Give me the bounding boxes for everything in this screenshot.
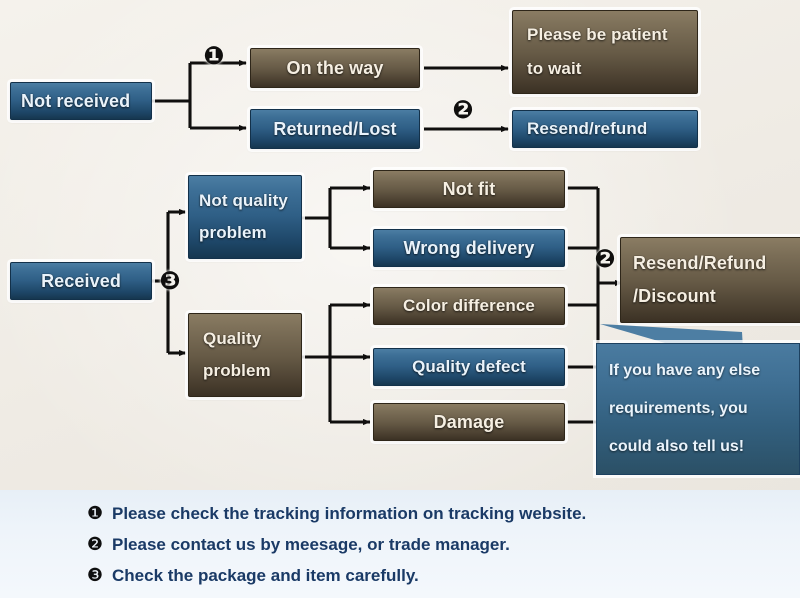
flowchart-canvas: Not received On the way Returned/Lost Pl…: [0, 0, 800, 598]
node-on-the-way[interactable]: On the way: [250, 48, 420, 88]
node-not-quality-problem[interactable]: Not quality problem: [188, 175, 302, 259]
callout-extra-requirements: If you have any else requirements, you c…: [596, 343, 800, 475]
callout-line3: could also tell us!: [609, 438, 787, 456]
legend-text-2: Please contact us by meesage, or trade m…: [112, 535, 510, 555]
node-please-be-patient-line1: Please be patient: [527, 26, 683, 44]
step-marker-3-label: ❸: [159, 266, 180, 295]
step-marker-2-top: ❷: [450, 97, 476, 123]
legend: ❶ Please check the tracking information …: [0, 490, 800, 598]
node-wrong-delivery-label: Wrong delivery: [403, 239, 534, 258]
step-marker-1: ❶: [201, 43, 227, 69]
node-resend-refund-discount-line1: Resend/Refund: [633, 254, 793, 273]
node-resend-refund[interactable]: Resend/refund: [512, 110, 698, 148]
legend-marker-1: ❶: [78, 503, 112, 524]
node-quality-problem-line1: Quality: [203, 330, 287, 348]
legend-marker-3: ❸: [78, 565, 112, 586]
legend-text-3: Check the package and item carefully.: [112, 566, 419, 586]
node-not-fit[interactable]: Not fit: [373, 170, 565, 208]
node-damage[interactable]: Damage: [373, 403, 565, 441]
node-quality-problem-line2: problem: [203, 362, 287, 380]
node-color-difference[interactable]: Color difference: [373, 287, 565, 325]
node-wrong-delivery[interactable]: Wrong delivery: [373, 229, 565, 267]
node-color-difference-label: Color difference: [403, 297, 535, 315]
node-not-quality-problem-line1: Not quality: [199, 192, 291, 210]
node-resend-refund-discount-line2: /Discount: [633, 287, 793, 306]
step-marker-3: ❸: [157, 268, 183, 294]
legend-item: ❸ Check the package and item carefully.: [78, 560, 800, 591]
node-received[interactable]: Received: [10, 262, 152, 300]
node-please-be-patient[interactable]: Please be patient to wait: [512, 10, 698, 94]
node-resend-refund-discount[interactable]: Resend/Refund /Discount: [620, 237, 800, 323]
step-marker-1-label: ❶: [203, 41, 224, 70]
node-returned-lost-label: Returned/Lost: [273, 120, 396, 139]
node-quality-problem[interactable]: Quality problem: [188, 313, 302, 397]
node-on-the-way-label: On the way: [286, 59, 383, 78]
node-not-fit-label: Not fit: [443, 180, 496, 199]
node-damage-label: Damage: [434, 413, 505, 432]
node-quality-defect-label: Quality defect: [412, 358, 526, 376]
step-marker-2-top-label: ❷: [452, 95, 473, 124]
node-please-be-patient-line2: to wait: [527, 60, 683, 78]
legend-item: ❶ Please check the tracking information …: [78, 498, 800, 529]
legend-item: ❷ Please contact us by meesage, or trade…: [78, 529, 800, 560]
node-not-quality-problem-line2: problem: [199, 224, 291, 242]
node-returned-lost[interactable]: Returned/Lost: [250, 109, 420, 149]
callout-line2: requirements, you: [609, 400, 787, 418]
callout-line1: If you have any else: [609, 362, 787, 380]
node-received-label: Received: [41, 272, 121, 291]
step-marker-2-right-label: ❷: [594, 244, 615, 273]
node-resend-refund-label: Resend/refund: [527, 120, 647, 138]
node-not-received-label: Not received: [21, 92, 141, 111]
legend-marker-2: ❷: [78, 534, 112, 555]
legend-text-1: Please check the tracking information on…: [112, 504, 586, 524]
step-marker-2-right: ❷: [592, 246, 618, 272]
node-not-received[interactable]: Not received: [10, 82, 152, 120]
node-quality-defect[interactable]: Quality defect: [373, 348, 565, 386]
